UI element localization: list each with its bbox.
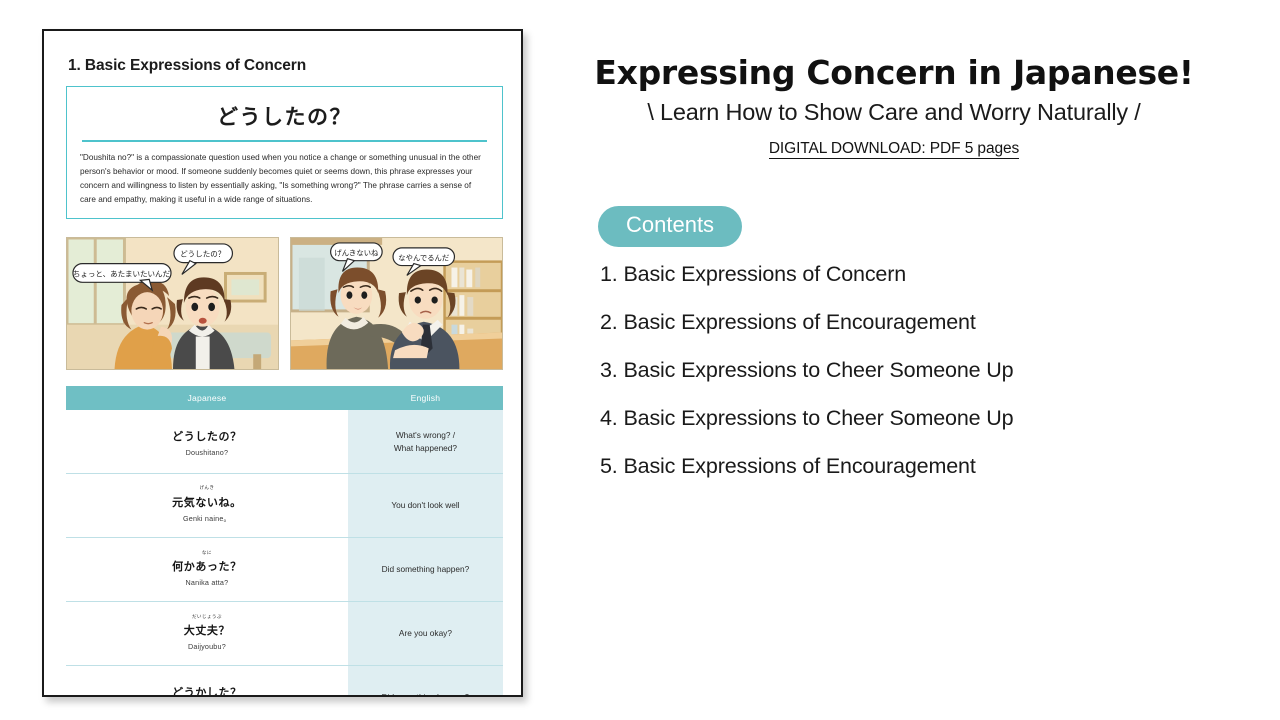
page-content: 1. Basic Expressions of Concern どうしたの？ "… bbox=[66, 57, 503, 677]
phrase-table: Japanese English どうしたの？ Doushitano? What… bbox=[66, 386, 503, 697]
romaji: Doushitano? bbox=[66, 448, 348, 457]
cell-japanese: どうしたの？ Doushitano? bbox=[66, 410, 348, 474]
phrase-divider bbox=[82, 140, 487, 142]
list-item: 1. Basic Expressions of Concern bbox=[600, 264, 1240, 286]
slide-canvas: 1. Basic Expressions of Concern どうしたの？ "… bbox=[0, 0, 1280, 720]
romaji: Daijyoubu? bbox=[66, 642, 348, 651]
cell-japanese: げんき 元気ないね。 Genki naine。 bbox=[66, 474, 348, 538]
table-header-row: Japanese English bbox=[66, 386, 503, 410]
cell-japanese: どうかした？ Doukashita? bbox=[66, 666, 348, 697]
digital-download-text: DIGITAL DOWNLOAD: PDF 5 pages bbox=[769, 140, 1019, 159]
illustration-home-scene: ちょっと、あたまいたいんだ どうしたの？ bbox=[66, 237, 279, 370]
cell-english: Are you okay? bbox=[348, 602, 503, 666]
digital-download-line: DIGITAL DOWNLOAD: PDF 5 pages bbox=[560, 140, 1228, 158]
svg-text:なやんでるんだ: なやんでるんだ bbox=[398, 254, 449, 263]
furigana: だいじょうぶ bbox=[66, 616, 348, 621]
furigana: げんき bbox=[66, 487, 348, 492]
list-item: 3. Basic Expressions to Cheer Someone Up bbox=[600, 360, 1240, 382]
list-item: 4. Basic Expressions to Cheer Someone Up bbox=[600, 408, 1240, 430]
phrase-japanese: どうしたの？ bbox=[80, 97, 489, 140]
cell-english: You don't look well bbox=[348, 474, 503, 538]
cell-english: What's wrong? / What happened? bbox=[348, 410, 503, 474]
promo-subtitle: \ Learn How to Show Care and Worry Natur… bbox=[560, 99, 1228, 126]
svg-text:ちょっと、あたまいたいんだ: ちょっと、あたまいたいんだ bbox=[73, 269, 171, 278]
cell-english: Did something happen? bbox=[348, 666, 503, 697]
page-title: 1. Basic Expressions of Concern bbox=[68, 57, 503, 75]
contents-badge: Contents bbox=[598, 206, 742, 247]
table-row: だいじょうぶ 大丈夫？ Daijyoubu? Are you okay? bbox=[66, 602, 503, 666]
cell-japanese: だいじょうぶ 大丈夫？ Daijyoubu? bbox=[66, 602, 348, 666]
column-header-japanese: Japanese bbox=[66, 386, 348, 410]
illustration-row: ちょっと、あたまいたいんだ どうしたの？ bbox=[66, 237, 503, 370]
illustration-office-scene: げんきないね なやんでるんだ bbox=[290, 237, 503, 370]
list-item: 5. Basic Expressions of Encouragement bbox=[600, 456, 1240, 478]
japanese-phrase: 大丈夫？ bbox=[184, 624, 230, 637]
romaji: Genki naine。 bbox=[66, 514, 348, 524]
contents-list: 1. Basic Expressions of Concern 2. Basic… bbox=[600, 264, 1240, 504]
japanese-phrase: どうかした？ bbox=[172, 686, 242, 697]
phrase-highlight-box: どうしたの？ "Doushita no?" is a compassionate… bbox=[66, 86, 503, 219]
japanese-phrase: どうしたの？ bbox=[172, 430, 242, 443]
office-scene-artwork: げんきないね なやんでるんだ bbox=[291, 238, 502, 369]
list-item: 2. Basic Expressions of Encouragement bbox=[600, 312, 1240, 334]
japanese-phrase: 何かあった？ bbox=[172, 560, 242, 573]
table-row: なに 何かあった？ Nanika atta? Did something hap… bbox=[66, 538, 503, 602]
cell-japanese: なに 何かあった？ Nanika atta? bbox=[66, 538, 348, 602]
table-row: どうかした？ Doukashita? Did something happen? bbox=[66, 666, 503, 697]
svg-text:げんきないね: げんきないね bbox=[334, 249, 379, 258]
home-scene-artwork: ちょっと、あたまいたいんだ どうしたの？ bbox=[67, 238, 278, 369]
furigana: なに bbox=[66, 552, 348, 557]
promo-column: Expressing Concern in Japanese! \ Learn … bbox=[560, 0, 1280, 720]
svg-text:どうしたの？: どうしたの？ bbox=[180, 250, 225, 259]
column-header-english: English bbox=[348, 386, 503, 410]
romaji: Nanika atta? bbox=[66, 578, 348, 587]
japanese-phrase: 元気ないね。 bbox=[172, 496, 242, 509]
table-row: どうしたの？ Doushitano? What's wrong? / What … bbox=[66, 410, 503, 474]
cell-english: Did something happen? bbox=[348, 538, 503, 602]
table-row: げんき 元気ないね。 Genki naine。 You don't look w… bbox=[66, 474, 503, 538]
promo-title: Expressing Concern in Japanese! bbox=[560, 53, 1228, 92]
phrase-description: "Doushita no?" is a compassionate questi… bbox=[80, 151, 489, 207]
pdf-page-preview-card[interactable]: 1. Basic Expressions of Concern どうしたの？ "… bbox=[42, 29, 523, 697]
